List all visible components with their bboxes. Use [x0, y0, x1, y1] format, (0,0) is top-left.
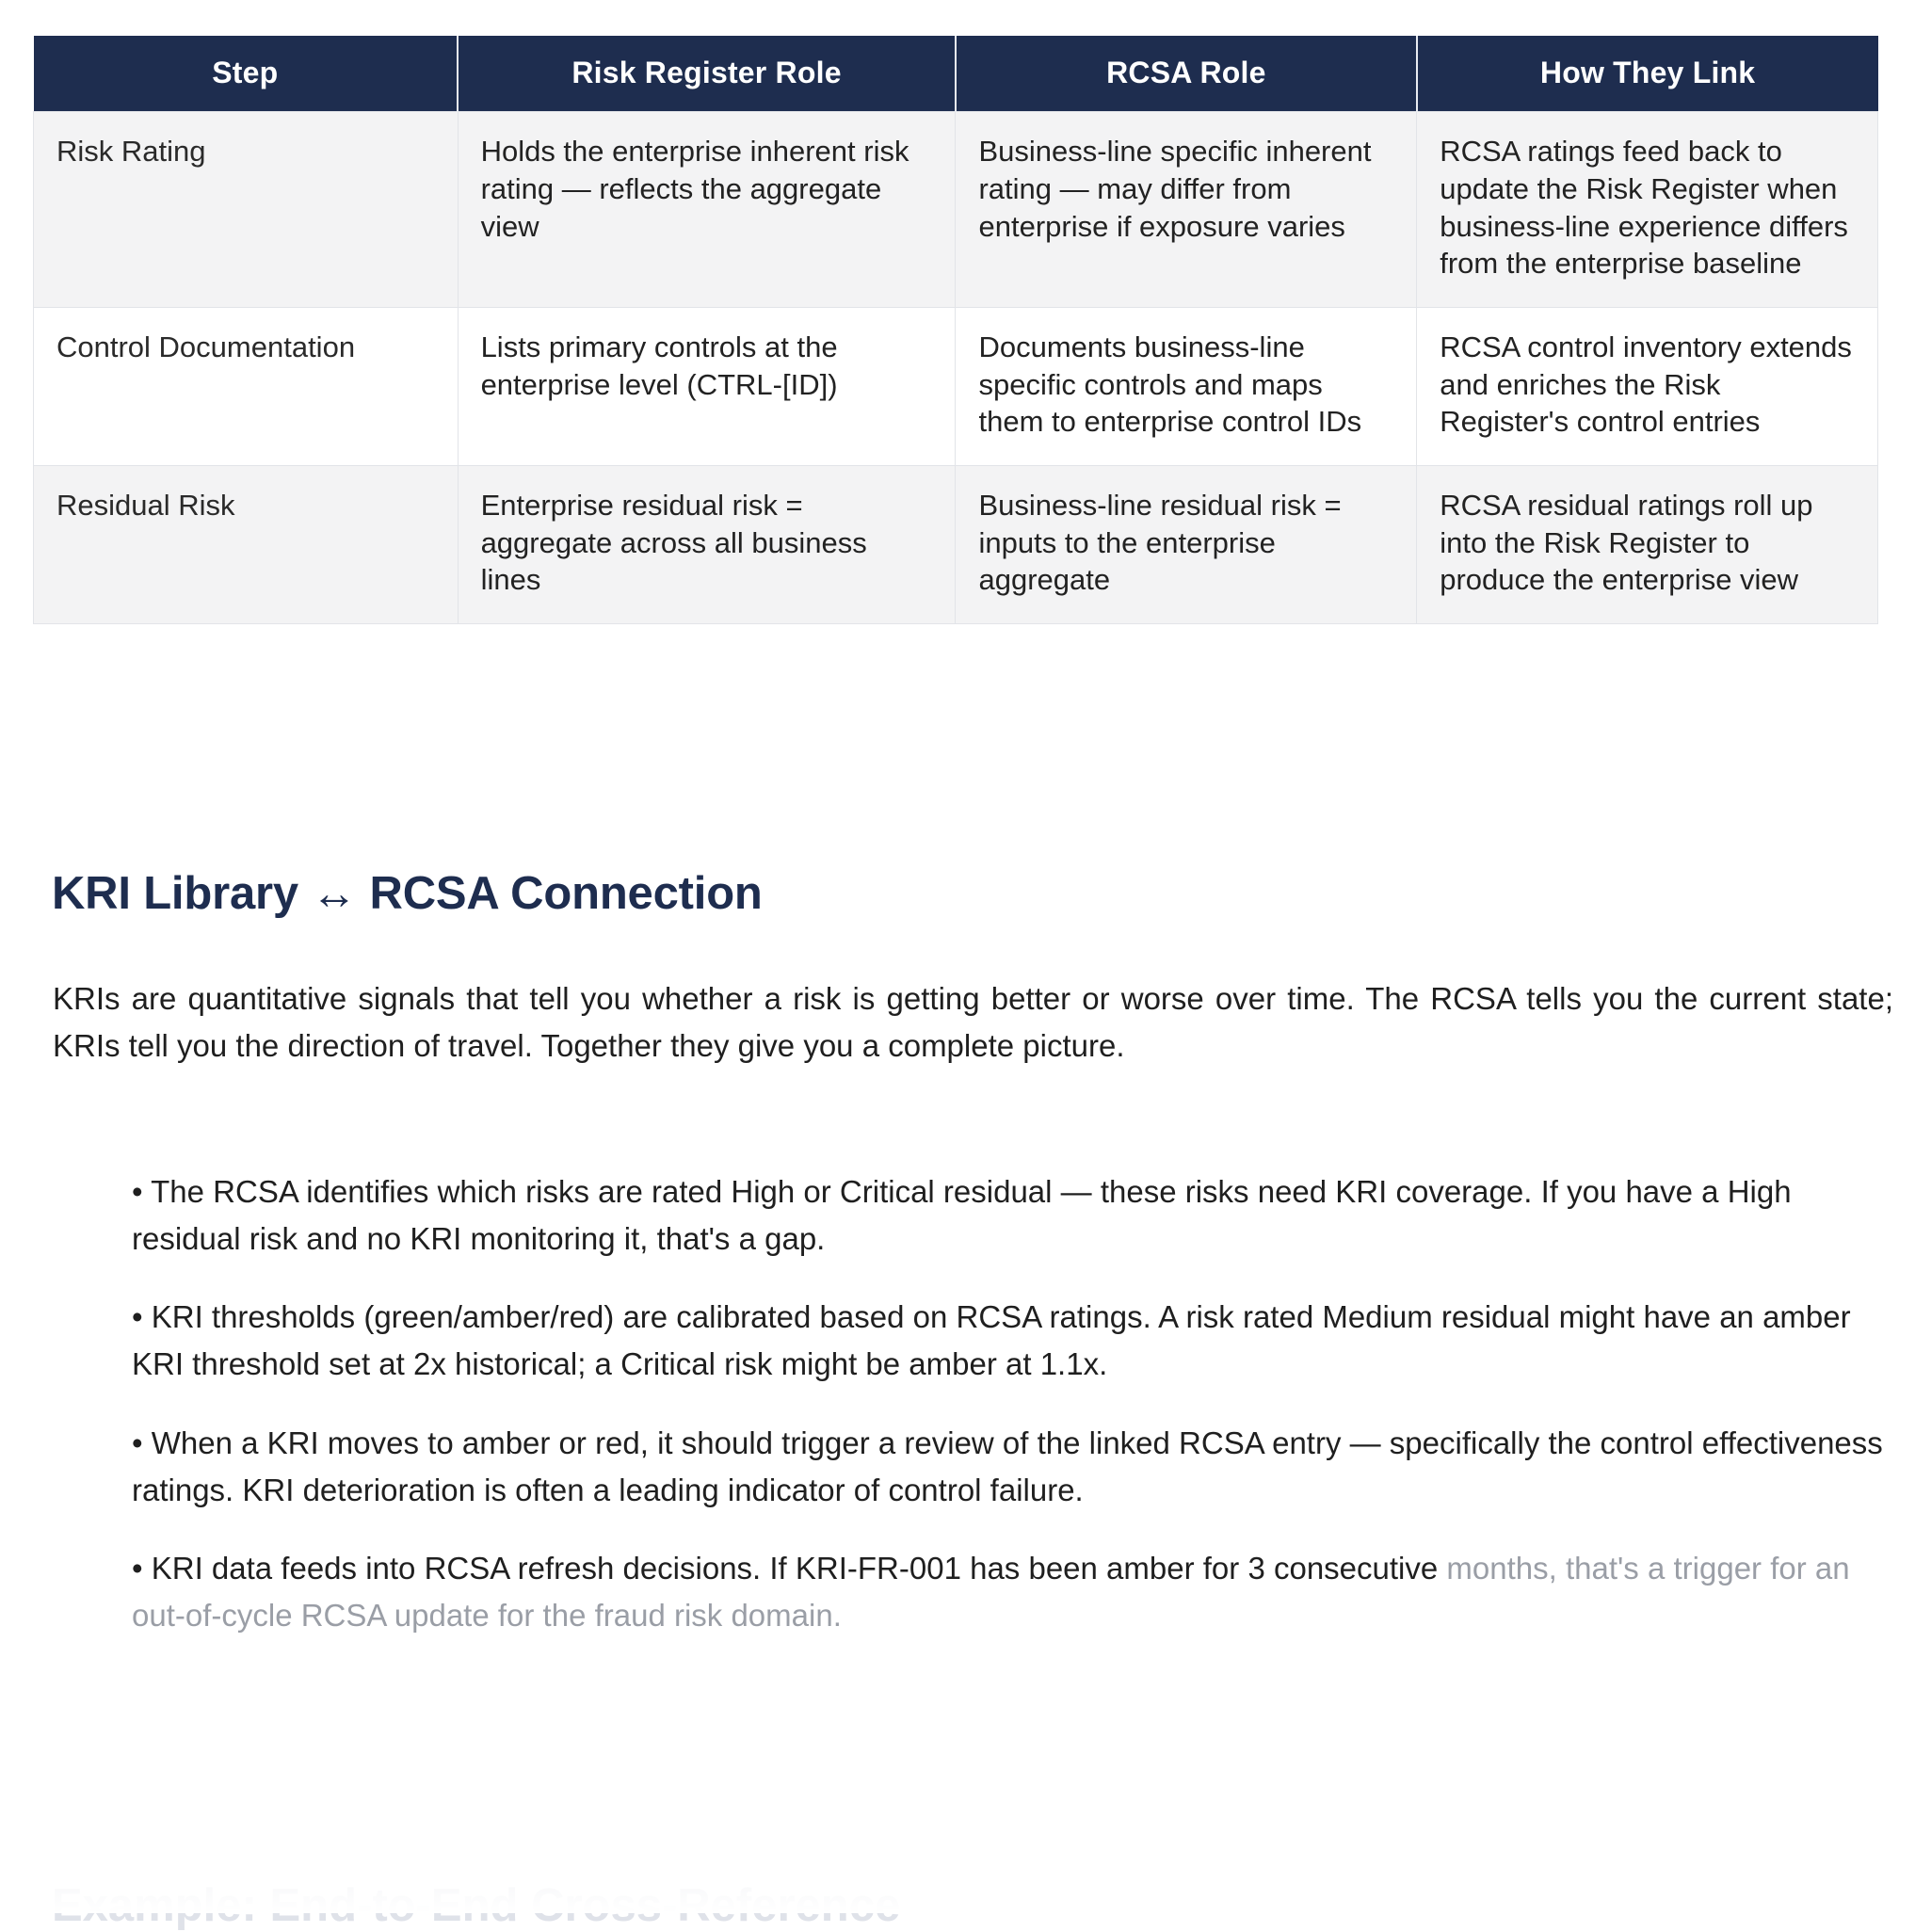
column-header-risk-register-role: Risk Register Role [458, 36, 956, 112]
risk-register-rcsa-table-wrapper: Step Risk Register Role RCSA Role How Th… [33, 36, 1878, 624]
section-intro-paragraph: KRIs are quantitative signals that tell … [53, 975, 1893, 1070]
kri-rcsa-bullet-list: • The RCSA identifies which risks are ra… [132, 1137, 1885, 1639]
list-item: • KRI thresholds (green/amber/red) are c… [132, 1294, 1885, 1388]
cell-risk-register-role: Enterprise residual risk = aggregate acr… [458, 466, 956, 624]
cell-rcsa-role: Business-line residual risk = inputs to … [956, 466, 1417, 624]
column-header-how-they-link: How They Link [1417, 36, 1878, 112]
list-item: • When a KRI moves to amber or red, it s… [132, 1420, 1885, 1514]
cell-how-they-link: RCSA ratings feed back to update the Ris… [1417, 112, 1878, 308]
cell-step: Control Documentation [34, 308, 459, 466]
next-section-heading-example-end-to-end-cross-reference: Example: End-to-End Cross-Reference [52, 1879, 900, 1932]
column-header-step: Step [34, 36, 459, 112]
cell-step: Residual Risk [34, 466, 459, 624]
cell-risk-register-role: Holds the enterprise inherent risk ratin… [458, 112, 956, 308]
table-header-row: Step Risk Register Role RCSA Role How Th… [34, 36, 1878, 112]
table-header: Step Risk Register Role RCSA Role How Th… [34, 36, 1878, 112]
cell-risk-register-role: Lists primary controls at the enterprise… [458, 308, 956, 466]
cell-rcsa-role: Business-line specific inherent rating —… [956, 112, 1417, 308]
cell-step: Risk Rating [34, 112, 459, 308]
table-row: Control Documentation Lists primary cont… [34, 308, 1878, 466]
table-row: Risk Rating Holds the enterprise inheren… [34, 112, 1878, 308]
list-item: • KRI data feeds into RCSA refresh decis… [132, 1545, 1885, 1639]
cell-rcsa-role: Documents business-line specific control… [956, 308, 1417, 466]
column-header-rcsa-role: RCSA Role [956, 36, 1417, 112]
list-item: • The RCSA identifies which risks are ra… [132, 1168, 1885, 1263]
cell-how-they-link: RCSA control inventory extends and enric… [1417, 308, 1878, 466]
section-heading-kri-library-rcsa-connection: KRI Library ↔ RCSA Connection [52, 867, 763, 920]
table-body: Risk Rating Holds the enterprise inheren… [34, 112, 1878, 624]
table-row: Residual Risk Enterprise residual risk =… [34, 466, 1878, 624]
risk-register-rcsa-table: Step Risk Register Role RCSA Role How Th… [33, 36, 1878, 624]
list-item-text: • KRI data feeds into RCSA refresh decis… [132, 1551, 1446, 1586]
cell-how-they-link: RCSA residual ratings roll up into the R… [1417, 466, 1878, 624]
document-page: Step Risk Register Role RCSA Role How Th… [0, 0, 1915, 1913]
